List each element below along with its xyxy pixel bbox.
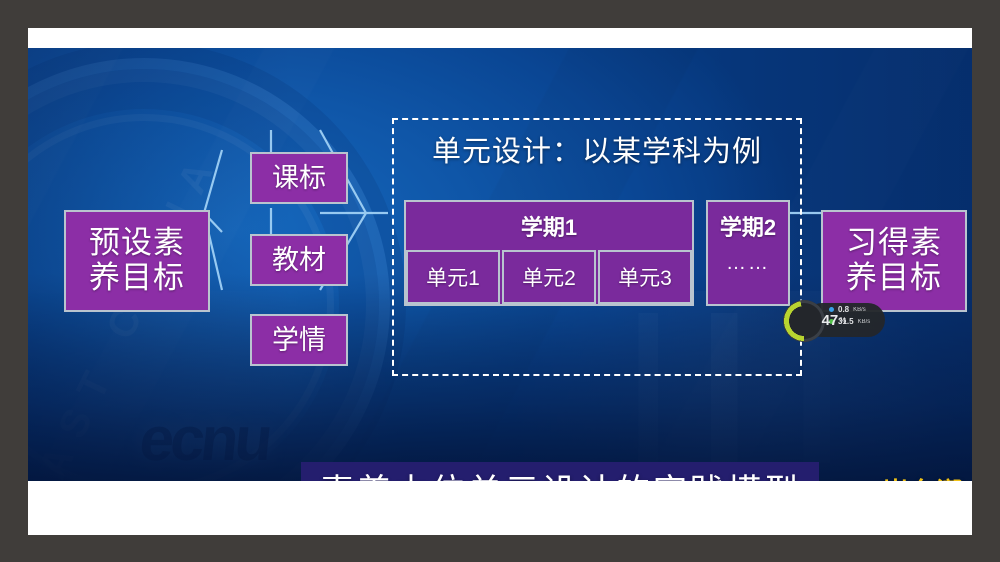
slide-image-area: EAST CHINA ecnu — [28, 48, 972, 481]
semester-2-continuation: …… — [708, 250, 788, 275]
node-label-line2: 养目标 — [89, 261, 185, 296]
node-curriculum-standard[interactable]: 课标 — [250, 152, 348, 204]
unit-cell-3[interactable]: 单元3 — [598, 250, 692, 304]
semester-1-header: 学期1 — [406, 202, 692, 250]
cpu-percent-value: 47% — [783, 300, 885, 340]
unit-design-group-title: 单元设计：以某学科为例 — [392, 128, 802, 170]
unit-cell-2[interactable]: 单元2 — [502, 250, 596, 304]
node-label-line1: 预设素 — [89, 226, 185, 261]
node-preset-literacy-goal[interactable]: 预设素 养目标 — [64, 210, 210, 312]
semester-1-unit-row: 单元1 单元2 单元3 — [406, 250, 692, 304]
slide-title-text: 素养本位单元设计的实践模型 — [319, 464, 800, 482]
node-label-line1: 习得素 — [846, 226, 942, 261]
node-label: 教材 — [272, 245, 326, 275]
network-speed-widget[interactable]: 47% 0.8 KB/s 31.5 KB/s — [783, 300, 885, 340]
author-name: 崔允漷 — [883, 472, 964, 481]
node-label: 学情 — [272, 325, 326, 355]
node-label-line2: 养目标 — [846, 261, 942, 296]
node-label: 课标 — [272, 163, 326, 193]
unit-cell-1[interactable]: 单元1 — [406, 250, 500, 304]
slide-title-banner: 素养本位单元设计的实践模型 — [301, 462, 819, 481]
node-textbook[interactable]: 教材 — [250, 234, 348, 286]
semester-2-block[interactable]: 学期2 …… — [706, 200, 790, 306]
node-student-situation[interactable]: 学情 — [250, 314, 348, 366]
cpu-percent-number: 47 — [822, 312, 839, 329]
cpu-percent-unit: % — [839, 316, 846, 325]
screenshot-root: EAST CHINA ecnu — [0, 0, 1000, 562]
semester-2-header: 学期2 — [708, 202, 788, 250]
node-gained-literacy-goal[interactable]: 习得素 养目标 — [821, 210, 967, 312]
semester-1-block[interactable]: 学期1 单元1 单元2 单元3 — [404, 200, 694, 306]
